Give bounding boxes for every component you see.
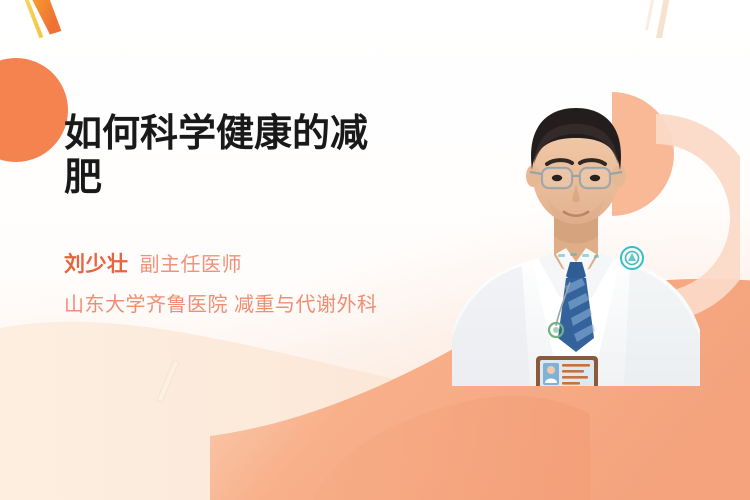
speaker-name: 刘少壮 <box>64 248 129 278</box>
id-badge-icon <box>536 356 598 386</box>
speaker-name-row: 刘少壮 副主任医师 <box>64 248 484 278</box>
page-title: 如何科学健康的减肥 <box>64 112 402 200</box>
faint-stroke-decoration <box>150 358 190 404</box>
diagonal-strokes-decoration <box>18 0 128 66</box>
speaker-byline: 刘少壮 副主任医师 山东大学齐鲁医院 减重与代谢外科 <box>64 248 484 317</box>
speaker-title: 副主任医师 <box>140 248 243 277</box>
faint-strokes-decoration <box>636 0 706 62</box>
doctor-portrait <box>452 86 700 386</box>
headline-block: 如何科学健康的减肥 <box>64 112 444 200</box>
promo-banner: 如何科学健康的减肥 刘少壮 副主任医师 山东大学齐鲁医院 减重与代谢外科 <box>0 0 750 500</box>
speaker-affiliation: 山东大学齐鲁医院 减重与代谢外科 <box>64 288 484 317</box>
